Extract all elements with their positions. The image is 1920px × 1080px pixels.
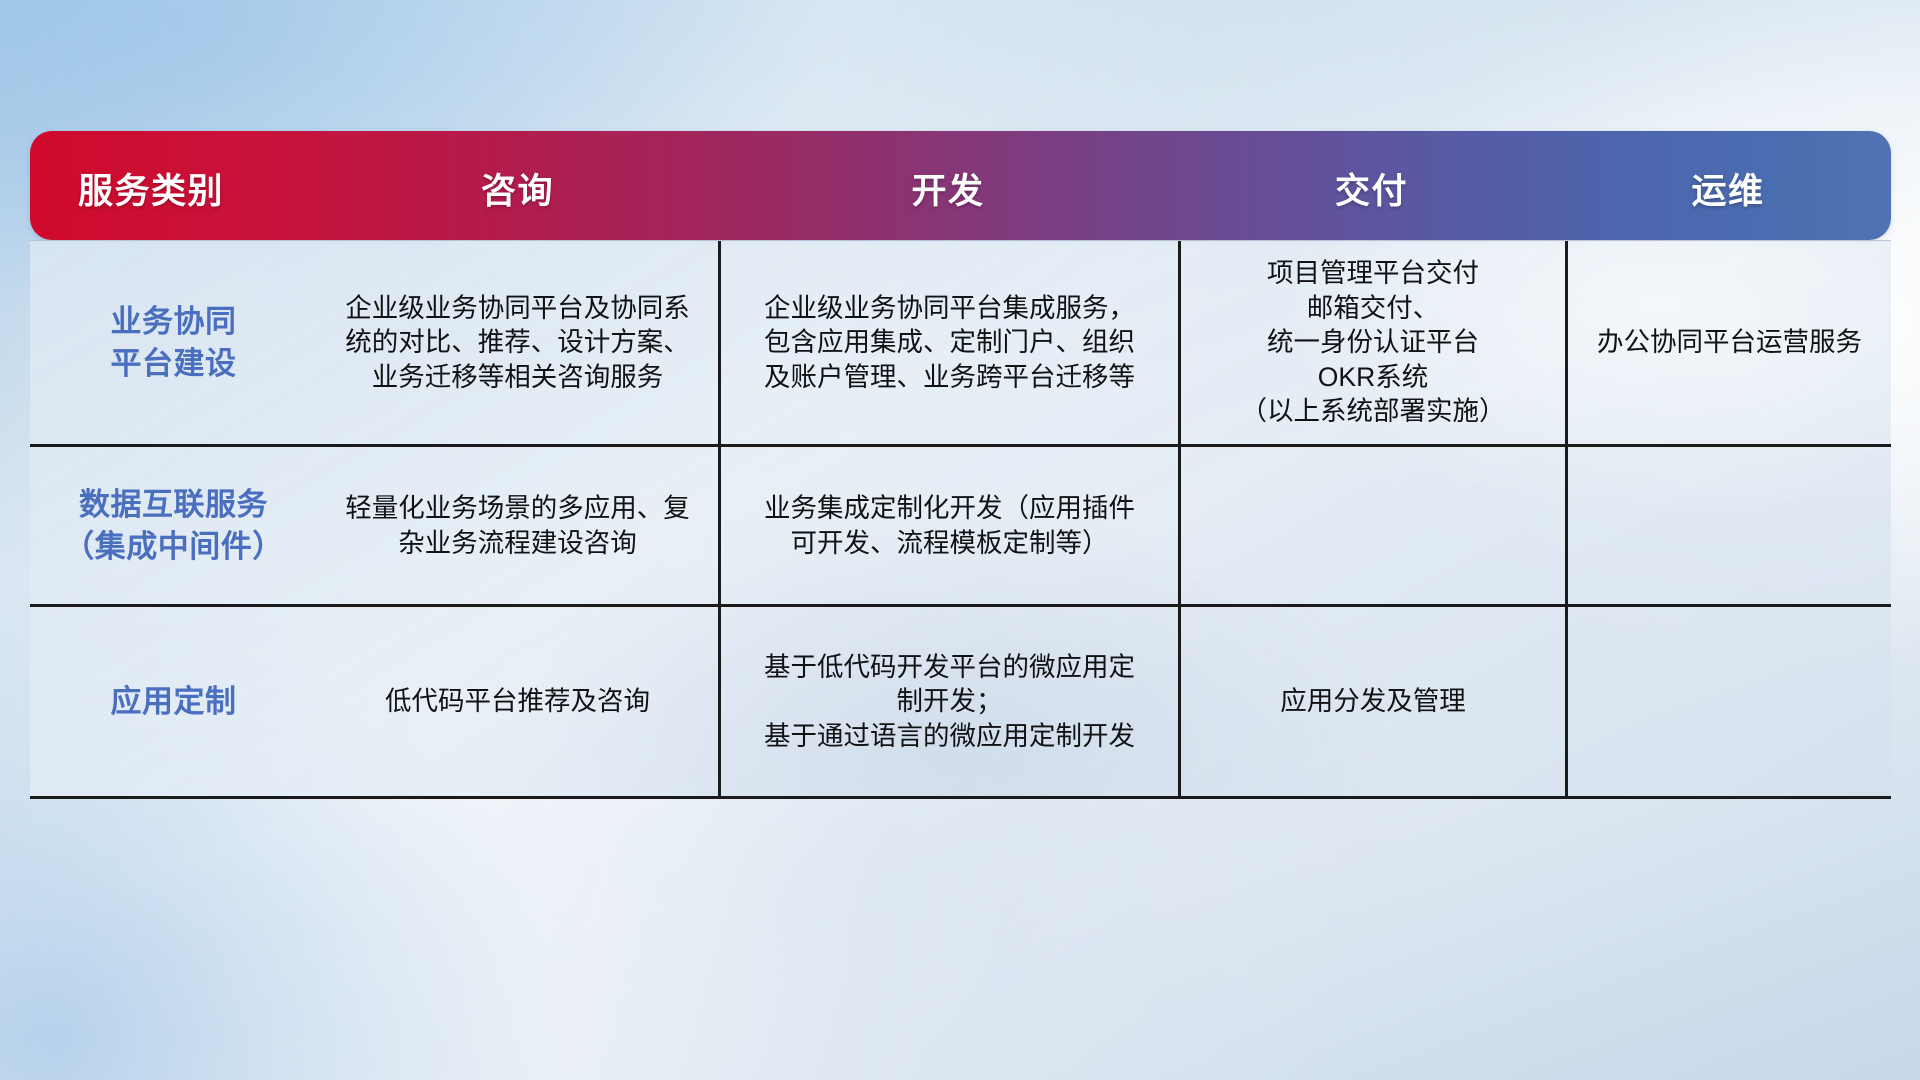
cell-consulting: 企业级业务协同平台及协同系 统的对比、推荐、设计方案、 业务迁移等相关咨询服务 xyxy=(317,241,718,444)
table-row: 数据互联服务 （集成中间件） 轻量化业务场景的多应用、复 杂业务流程建设咨询 业… xyxy=(30,447,1891,607)
column-header-consulting: 咨询 xyxy=(317,131,718,240)
column-header-operations: 运维 xyxy=(1565,131,1891,240)
cell-operations xyxy=(1565,447,1891,604)
table-row: 业务协同 平台建设 企业级业务协同平台及协同系 统的对比、推荐、设计方案、 业务… xyxy=(30,241,1891,447)
cell-delivery: 项目管理平台交付 邮箱交付、 统一身份认证平台 OKR系统 （以上系统部署实施） xyxy=(1178,241,1565,444)
row-category-cell: 应用定制 xyxy=(30,607,317,796)
cell-delivery: 应用分发及管理 xyxy=(1178,607,1565,796)
column-header-category: 服务类别 xyxy=(30,131,317,240)
cell-consulting: 轻量化业务场景的多应用、复 杂业务流程建设咨询 xyxy=(317,447,718,604)
table-row: 应用定制 低代码平台推荐及咨询 基于低代码开发平台的微应用定 制开发； 基于通过… xyxy=(30,607,1891,799)
cell-development: 基于低代码开发平台的微应用定 制开发； 基于通过语言的微应用定制开发 xyxy=(718,607,1178,796)
column-header-delivery: 交付 xyxy=(1178,131,1565,240)
cell-development: 企业级业务协同平台集成服务， 包含应用集成、定制门户、组织 及账户管理、业务跨平… xyxy=(718,241,1178,444)
category-label: 应用定制 xyxy=(111,681,237,722)
cell-development: 业务集成定制化开发（应用插件 可开发、流程模板定制等） xyxy=(718,447,1178,604)
cell-operations: 办公协同平台运营服务 xyxy=(1565,241,1891,444)
category-label: 业务协同 平台建设 xyxy=(111,301,237,383)
cell-delivery xyxy=(1178,447,1565,604)
cell-consulting: 低代码平台推荐及咨询 xyxy=(317,607,718,796)
table-body: 业务协同 平台建设 企业级业务协同平台及协同系 统的对比、推荐、设计方案、 业务… xyxy=(30,240,1891,799)
service-matrix-table: 服务类别 咨询 开发 交付 运维 业务协同 平台建设 企业级业务协同平台及协同系… xyxy=(30,131,1891,799)
cell-operations xyxy=(1565,607,1891,796)
table-header-row: 服务类别 咨询 开发 交付 运维 xyxy=(30,131,1891,240)
row-category-cell: 业务协同 平台建设 xyxy=(30,241,317,444)
column-header-development: 开发 xyxy=(718,131,1178,240)
row-category-cell: 数据互联服务 （集成中间件） xyxy=(30,447,317,604)
category-label: 数据互联服务 （集成中间件） xyxy=(63,484,284,566)
